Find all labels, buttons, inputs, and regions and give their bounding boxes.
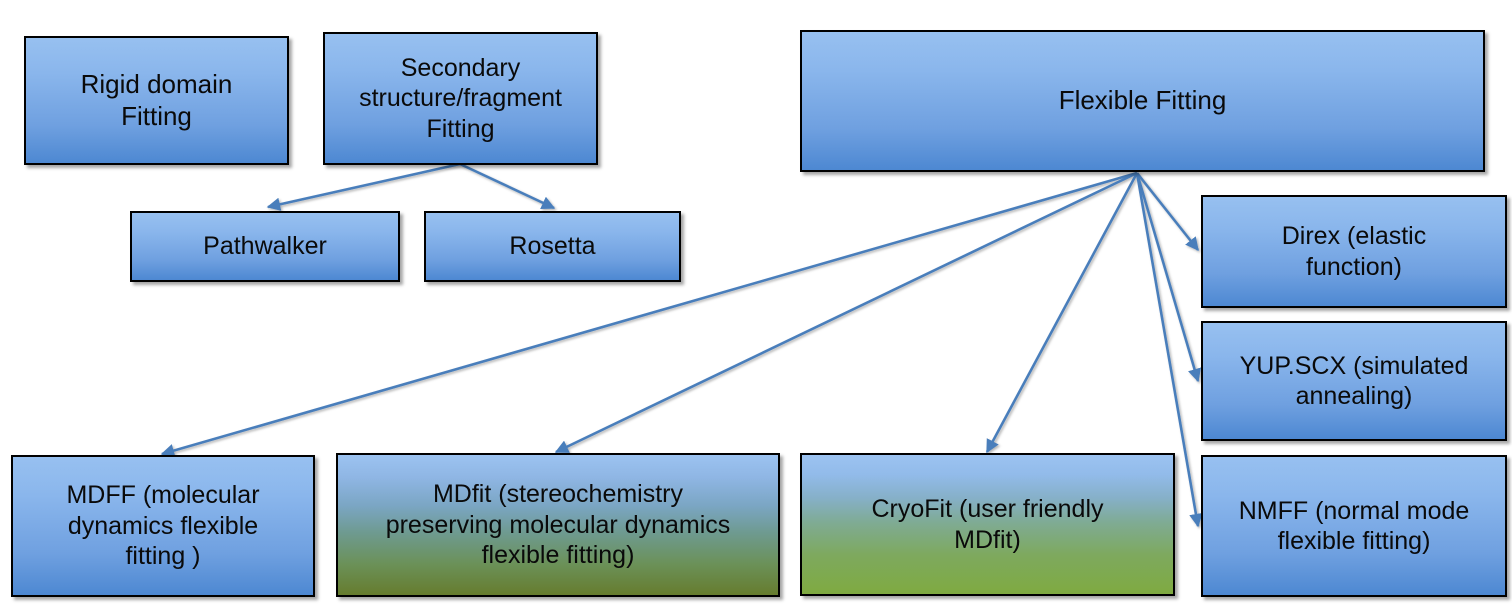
- node-flexible-fitting[interactable]: Flexible Fitting: [800, 30, 1485, 172]
- edge-flexible-to-yupscx: [1137, 173, 1198, 381]
- edge-secondary-to-rosetta: [460, 164, 554, 208]
- node-label: CryoFit (user friendly MDfit): [812, 494, 1163, 555]
- node-yup-scx[interactable]: YUP.SCX (simulated annealing): [1201, 321, 1507, 441]
- node-rosetta[interactable]: Rosetta: [424, 211, 681, 282]
- node-label: MDFF (molecular dynamics flexible fittin…: [23, 480, 303, 572]
- node-nmff[interactable]: NMFF (normal mode flexible fitting): [1201, 455, 1507, 597]
- node-pathwalker[interactable]: Pathwalker: [130, 211, 400, 282]
- node-direx[interactable]: Direx (elastic function): [1201, 195, 1507, 308]
- node-secondary-structure-fragment-fitting[interactable]: Secondary structure/fragment Fitting: [323, 32, 598, 165]
- diagram-canvas: Rigid domain Fitting Secondary structure…: [0, 0, 1512, 610]
- edge-secondary-to-pathwalker: [268, 164, 460, 207]
- edge-flexible-to-direx: [1137, 173, 1198, 250]
- node-label: Rigid domain Fitting: [36, 69, 277, 132]
- node-label: Flexible Fitting: [812, 85, 1473, 117]
- node-label: NMFF (normal mode flexible fitting): [1213, 496, 1495, 557]
- node-mdfit[interactable]: MDfit (stereochemistry preserving molecu…: [336, 453, 780, 597]
- node-label: Direx (elastic function): [1213, 221, 1495, 282]
- edge-flexible-to-cryofit: [987, 173, 1137, 452]
- node-cryofit[interactable]: CryoFit (user friendly MDfit): [800, 453, 1175, 596]
- node-label: Rosetta: [436, 231, 669, 262]
- node-label: Secondary structure/fragment Fitting: [335, 53, 586, 145]
- node-label: YUP.SCX (simulated annealing): [1213, 351, 1495, 412]
- node-rigid-domain-fitting[interactable]: Rigid domain Fitting: [24, 36, 289, 165]
- node-label: MDfit (stereochemistry preserving molecu…: [348, 479, 768, 571]
- node-mdff[interactable]: MDFF (molecular dynamics flexible fittin…: [11, 455, 315, 597]
- node-label: Pathwalker: [142, 231, 388, 262]
